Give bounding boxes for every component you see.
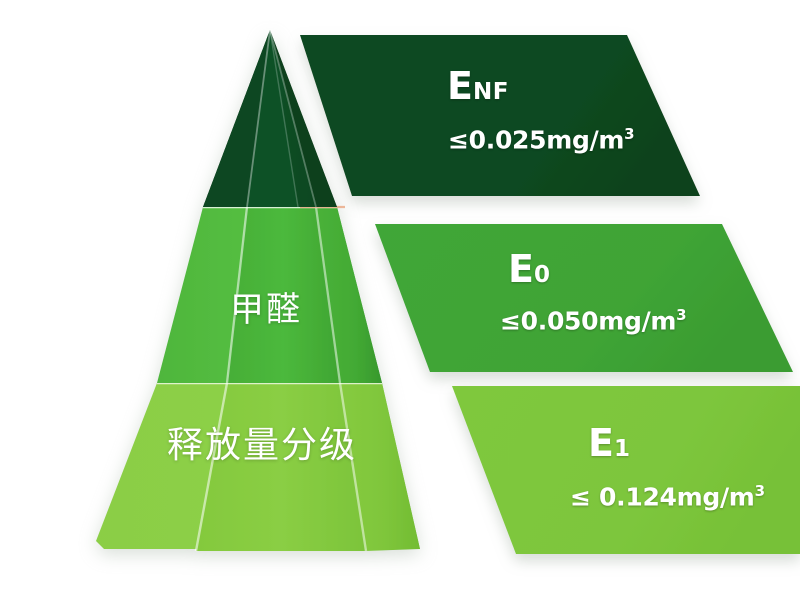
pyramid-tier-base[interactable] (96, 383, 424, 559)
figure-canvas: 甲醛 释放量分级 ENF ≤0.025mg/m3 E0 ≤0.050mg/m3 … (0, 0, 800, 599)
band-e1-grade-letter: E (588, 421, 614, 465)
band-e1-value-sup: 3 (755, 482, 765, 500)
band-e0-grade: E0 (508, 250, 550, 288)
band-e1-shape[interactable] (452, 386, 800, 554)
pyramid-label-base: 释放量分级 (167, 428, 357, 464)
band-e1-value: ≤ 0.124mg/m3 (570, 484, 765, 509)
band-e0-grade-letter: E (508, 247, 534, 291)
band-enf-value-text: ≤0.025mg/m (448, 125, 624, 154)
band-e1-value-text: ≤ 0.124mg/m (570, 482, 755, 511)
band-enf-grade: ENF (447, 67, 509, 105)
band-e0-value-text: ≤0.050mg/m (500, 306, 676, 335)
band-enf-value-sup: 3 (624, 125, 634, 143)
band-enf-value: ≤0.025mg/m3 (448, 127, 634, 152)
band-e1-grade: E1 (588, 424, 630, 462)
band-e1-grade-sub: 1 (614, 436, 631, 462)
band-e0-value-sup: 3 (676, 306, 686, 324)
band-e0-shape[interactable] (375, 224, 793, 372)
band-e0-value: ≤0.050mg/m3 (500, 308, 686, 333)
pyramid-label-mid: 甲醛 (230, 293, 302, 327)
band-enf-grade-sub: NF (473, 79, 509, 105)
band-enf-shape[interactable] (300, 35, 700, 196)
band-enf-grade-letter: E (447, 64, 473, 108)
band-e0-grade-sub: 0 (534, 262, 551, 288)
